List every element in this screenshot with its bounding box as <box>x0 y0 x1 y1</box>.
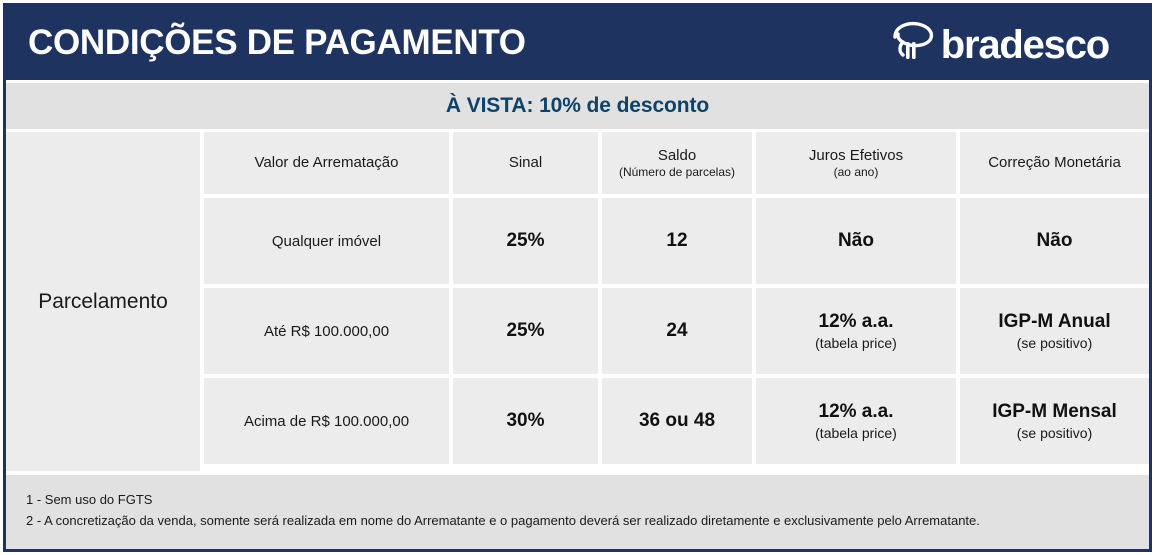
column-header-sinal-label: Sinal <box>509 154 542 171</box>
footnote-1: 1 - Sem uso do FGTS <box>26 489 1149 510</box>
cell-valor-text: Até R$ 100.000,00 <box>264 323 389 340</box>
page-title: CONDIÇÕES DE PAGAMENTO <box>28 23 526 63</box>
footnote-2: 2 - A concretização da venda, somente se… <box>26 510 1149 531</box>
cell-saldo-text: 12 <box>666 230 687 252</box>
column-header-correcao-label: Correção Monetária <box>988 154 1121 171</box>
column-header-valor: Valor de Arrematação <box>204 132 449 194</box>
cell-correcao-subtext: (se positivo) <box>1017 425 1092 442</box>
cell-juros: 12% a.a. (tabela price) <box>756 288 956 374</box>
table-row: Até R$ 100.000,00 25% 24 12% a.a. (tabel… <box>204 288 1149 374</box>
brand-wordmark: bradesco <box>941 25 1109 65</box>
cell-sinal-text: 25% <box>506 230 544 252</box>
row-group-label: Parcelamento <box>38 290 168 314</box>
table-row: Acima de R$ 100.000,00 30% 36 ou 48 12% … <box>204 378 1149 464</box>
column-header-saldo: Saldo (Número de parcelas) <box>602 132 752 194</box>
cell-saldo: 12 <box>602 198 752 284</box>
payment-conditions-panel: CONDIÇÕES DE PAGAMENTO bradesco À VISTA:… <box>0 0 1155 555</box>
cell-correcao: IGP-M Mensal (se positivo) <box>960 378 1149 464</box>
cell-juros-subtext: (tabela price) <box>815 425 897 442</box>
table-header-row: Valor de Arrematação Sinal Saldo (Número… <box>204 132 1149 194</box>
cell-sinal: 25% <box>453 288 598 374</box>
cell-correcao-text: IGP-M Anual <box>998 311 1110 333</box>
brand-logo: bradesco <box>887 20 1127 66</box>
cell-juros: 12% a.a. (tabela price) <box>756 378 956 464</box>
cell-sinal-text: 30% <box>506 410 544 432</box>
column-header-sinal: Sinal <box>453 132 598 194</box>
column-header-saldo-sublabel: (Número de parcelas) <box>619 165 735 179</box>
cell-sinal: 30% <box>453 378 598 464</box>
cell-valor-text: Acima de R$ 100.000,00 <box>244 413 409 430</box>
cell-juros-text: 12% a.a. <box>819 311 894 333</box>
discount-banner-text: À VISTA: 10% de desconto <box>446 94 709 118</box>
column-header-juros-sublabel: (ao ano) <box>834 165 879 179</box>
cell-correcao-text: Não <box>1037 230 1073 252</box>
cell-correcao-subtext: (se positivo) <box>1017 335 1092 352</box>
cell-sinal: 25% <box>453 198 598 284</box>
conditions-table: Parcelamento Valor de Arrematação Sinal … <box>6 129 1149 471</box>
panel-frame: CONDIÇÕES DE PAGAMENTO bradesco À VISTA:… <box>3 3 1152 552</box>
column-header-juros: Juros Efetivos (ao ano) <box>756 132 956 194</box>
column-header-juros-label: Juros Efetivos <box>809 147 903 164</box>
cell-saldo-text: 24 <box>666 320 687 342</box>
column-header-saldo-label: Saldo <box>658 147 696 164</box>
cell-saldo-text: 36 ou 48 <box>639 410 715 432</box>
table-row: Qualquer imóvel 25% 12 Não Não <box>204 198 1149 284</box>
bradesco-tree-logo-icon <box>887 20 935 66</box>
cell-juros-text: Não <box>838 230 874 252</box>
cell-correcao-text: IGP-M Mensal <box>992 401 1117 423</box>
footnotes-section: 1 - Sem uso do FGTS 2 - A concretização … <box>6 475 1149 549</box>
discount-banner: À VISTA: 10% de desconto <box>6 83 1149 129</box>
column-header-valor-label: Valor de Arrematação <box>255 154 399 171</box>
cell-juros: Não <box>756 198 956 284</box>
panel-header: CONDIÇÕES DE PAGAMENTO bradesco <box>6 6 1149 80</box>
cell-correcao: Não <box>960 198 1149 284</box>
table-body: Valor de Arrematação Sinal Saldo (Número… <box>204 132 1149 471</box>
column-header-correcao: Correção Monetária <box>960 132 1149 194</box>
cell-valor: Até R$ 100.000,00 <box>204 288 449 374</box>
cell-valor: Qualquer imóvel <box>204 198 449 284</box>
cell-valor-text: Qualquer imóvel <box>272 233 381 250</box>
cell-sinal-text: 25% <box>506 320 544 342</box>
cell-valor: Acima de R$ 100.000,00 <box>204 378 449 464</box>
cell-correcao: IGP-M Anual (se positivo) <box>960 288 1149 374</box>
cell-saldo: 24 <box>602 288 752 374</box>
row-group-label-cell: Parcelamento <box>6 132 200 471</box>
cell-saldo: 36 ou 48 <box>602 378 752 464</box>
cell-juros-subtext: (tabela price) <box>815 335 897 352</box>
cell-juros-text: 12% a.a. <box>819 401 894 423</box>
